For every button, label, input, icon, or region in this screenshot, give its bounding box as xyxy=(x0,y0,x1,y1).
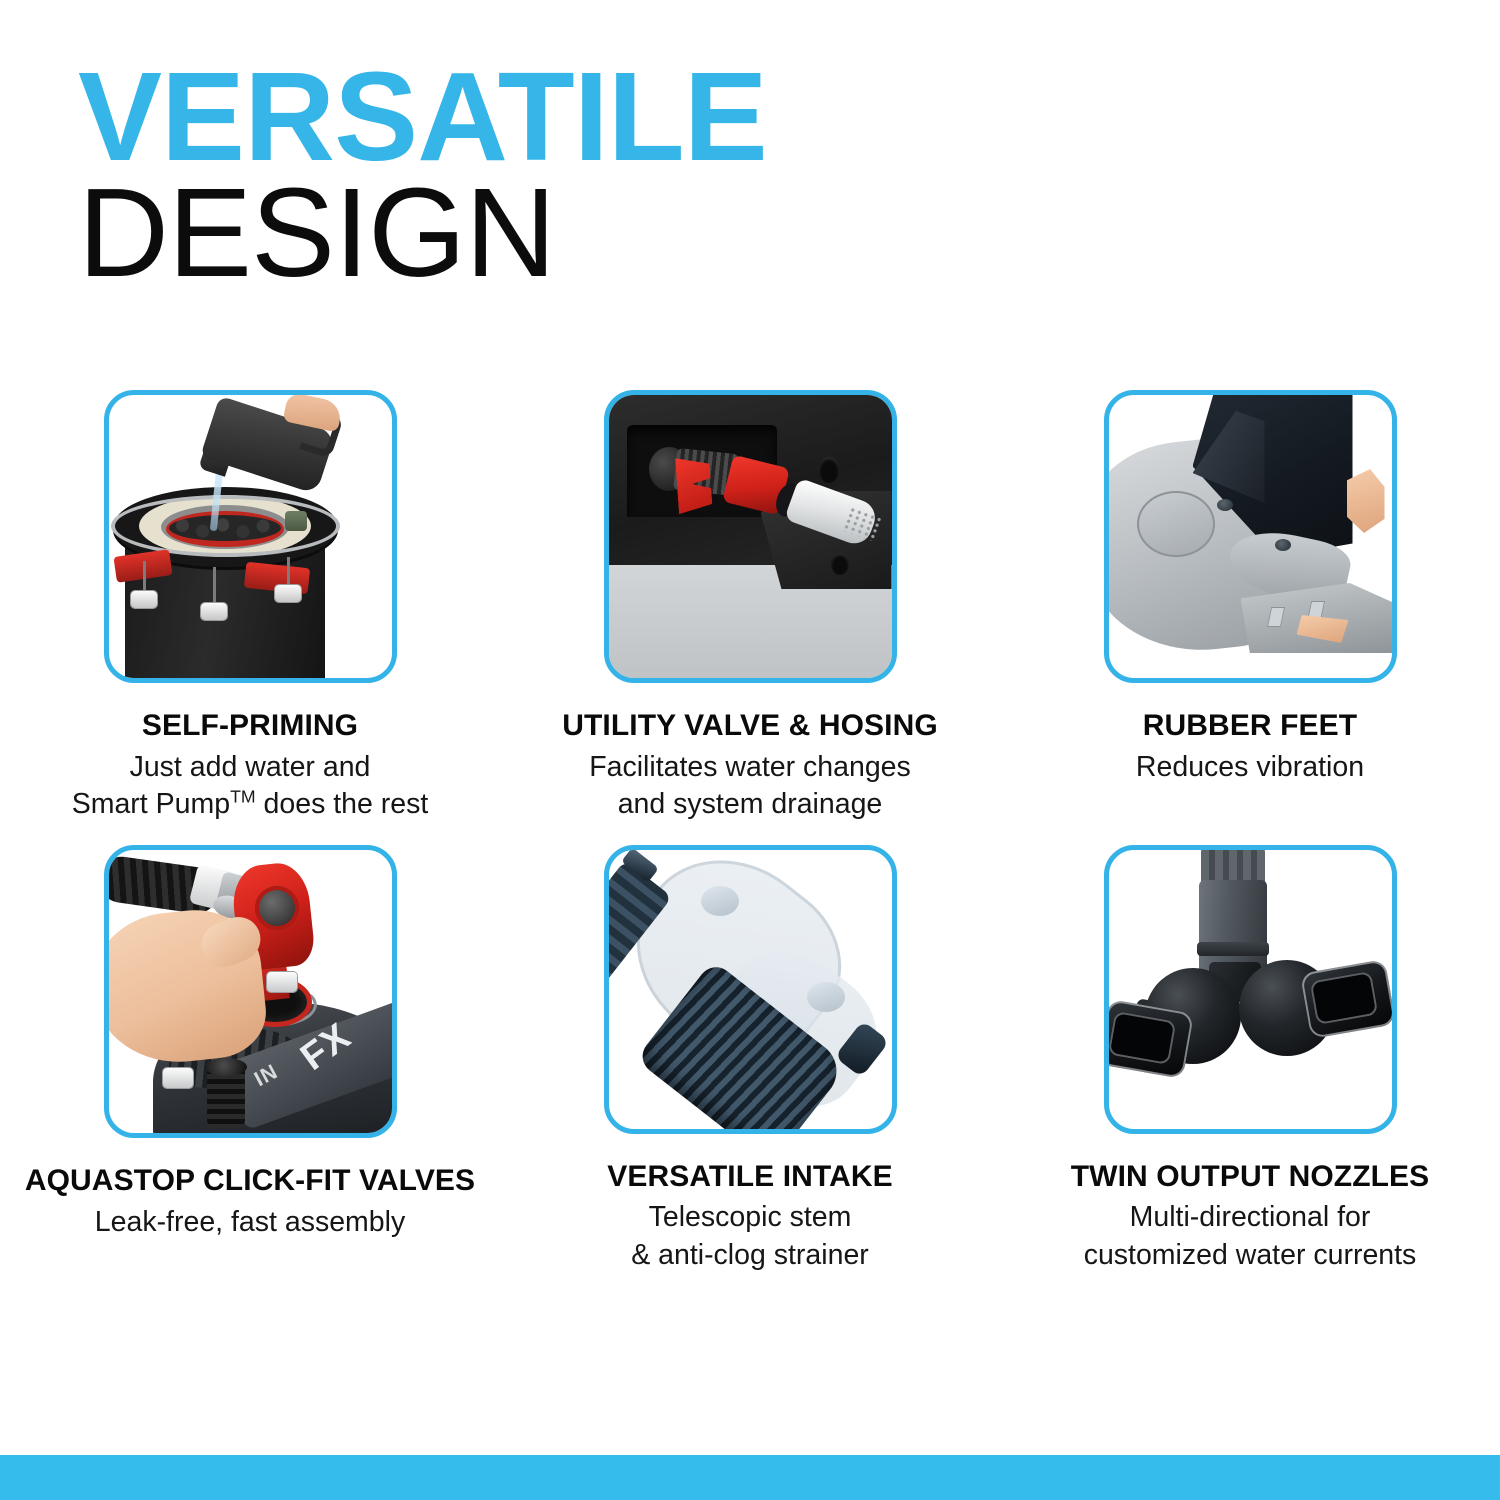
clip-wire xyxy=(143,561,146,593)
art-utility-valve xyxy=(609,395,892,678)
caption-twin-nozzles: TWIN OUTPUT NOZZLES Multi-directional fo… xyxy=(1005,1160,1495,1275)
feature-title: VERSATILE INTAKE xyxy=(505,1160,995,1195)
caption-rubber-feet: RUBBER FEET Reduces vibration xyxy=(1005,709,1495,786)
subtitle-suffix: does the rest xyxy=(256,788,429,820)
white-clip xyxy=(131,591,157,608)
feature-image-utility-valve xyxy=(604,390,897,683)
feature-image-rubber-feet xyxy=(1104,390,1397,683)
feature-subtitle: Multi-directional for customized water c… xyxy=(1005,1199,1495,1275)
title-line-versatile: VERSATILE xyxy=(78,58,767,176)
feature-card-self-priming: SELF-PRIMING Just add water and Smart Pu… xyxy=(0,390,500,845)
feature-subtitle: Facilitates water changes and system dra… xyxy=(505,749,995,825)
feature-title: TWIN OUTPUT NOZZLES xyxy=(1005,1160,1495,1195)
feature-card-rubber-feet: RUBBER FEET Reduces vibration xyxy=(1000,390,1500,845)
feature-card-twin-nozzles: TWIN OUTPUT NOZZLES Multi-directional fo… xyxy=(1000,845,1500,1275)
subtitle-line-1: Multi-directional for xyxy=(1130,1201,1371,1233)
feature-grid: SELF-PRIMING Just add water and Smart Pu… xyxy=(0,390,1500,1275)
feature-title: UTILITY VALVE & HOSING xyxy=(505,709,995,744)
feature-subtitle: Telescopic stem & anti-clog strainer xyxy=(505,1199,995,1275)
art-aquastop-valves: FX IN xyxy=(109,850,392,1133)
feature-subtitle: Reduces vibration xyxy=(1005,749,1495,787)
canister-steel-ring xyxy=(111,495,340,557)
clip-wire xyxy=(213,567,216,605)
caption-self-priming: SELF-PRIMING Just add water and Smart Pu… xyxy=(5,709,495,824)
housing-hole xyxy=(819,457,839,483)
white-clip xyxy=(201,603,227,620)
caption-aquastop-valves: AQUASTOP CLICK-FIT VALVES Leak-free, fas… xyxy=(5,1164,495,1241)
nozzle-stem-ring xyxy=(1197,942,1269,956)
feature-image-aquastop-valves: FX IN xyxy=(104,845,397,1138)
subtitle-line-1: Telescopic stem xyxy=(649,1201,852,1233)
feature-card-utility-valve: UTILITY VALVE & HOSING Facilitates water… xyxy=(500,390,1000,845)
feature-title: RUBBER FEET xyxy=(1005,709,1495,744)
infographic-page: VERSATILE DESIGN xyxy=(0,0,1500,1500)
feature-title: SELF-PRIMING xyxy=(5,709,495,744)
feature-card-aquastop-valves: FX IN AQUASTOP CLICK-FIT VALVES Leak-fre… xyxy=(0,845,500,1275)
subtitle-line-2: and system drainage xyxy=(618,788,883,820)
subtitle-prefix: Smart Pump xyxy=(72,788,230,820)
caption-versatile-intake: VERSATILE INTAKE Telescopic stem & anti-… xyxy=(505,1160,995,1275)
screw xyxy=(1217,499,1233,511)
underside-disc xyxy=(1137,491,1215,557)
subtitle-line-1: Just add water and xyxy=(130,751,371,783)
art-rubber-feet xyxy=(1109,395,1392,678)
suction-cup xyxy=(701,886,739,916)
feature-subtitle: Leak-free, fast assembly xyxy=(5,1204,495,1242)
bottom-accent-bar xyxy=(0,1455,1500,1500)
white-clip xyxy=(275,585,301,602)
feature-title: AQUASTOP CLICK-FIT VALVES xyxy=(5,1164,495,1199)
art-versatile-intake xyxy=(609,850,892,1133)
art-self-priming xyxy=(109,395,392,678)
white-clip xyxy=(267,972,297,992)
trademark-mark: TM xyxy=(230,787,256,807)
subtitle-line-2: customized water currents xyxy=(1084,1239,1417,1271)
feature-image-twin-nozzles xyxy=(1104,845,1397,1134)
subtitle-line-1: Facilitates water changes xyxy=(589,751,911,783)
lid-port-opening xyxy=(205,1058,247,1076)
housing-hole xyxy=(831,553,849,575)
caption-utility-valve: UTILITY VALVE & HOSING Facilitates water… xyxy=(505,709,995,824)
feature-image-versatile-intake xyxy=(604,845,897,1134)
feature-card-versatile-intake: VERSATILE INTAKE Telescopic stem & anti-… xyxy=(500,845,1000,1275)
art-twin-nozzles xyxy=(1109,850,1392,1129)
page-title: VERSATILE DESIGN xyxy=(78,58,767,296)
subtitle-line-2: & anti-clog strainer xyxy=(631,1239,869,1271)
suction-cup xyxy=(807,982,845,1012)
feature-image-self-priming xyxy=(104,390,397,683)
title-line-design: DESIGN xyxy=(78,170,767,296)
clip-wire xyxy=(287,557,290,587)
white-clip xyxy=(163,1068,193,1088)
feature-subtitle: Just add water and Smart PumpTM does the… xyxy=(5,749,495,825)
screw xyxy=(1275,539,1291,551)
